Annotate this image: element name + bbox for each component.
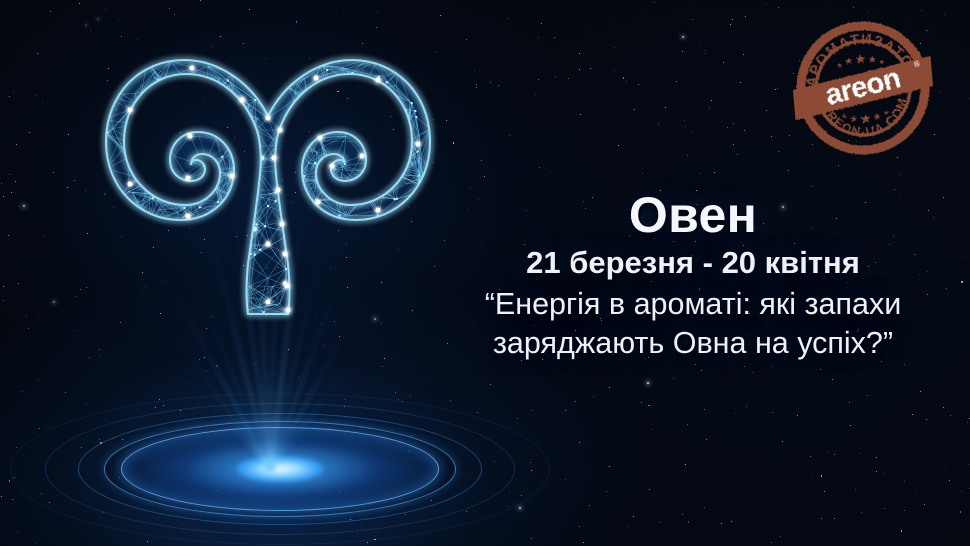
stamp-brand-text: areon <box>822 62 903 111</box>
areon-logo-stamp[interactable]: АРОМАТИЗАТОР AREON-UA.COM <box>787 12 939 164</box>
aries-ram-wireframe <box>92 38 444 330</box>
ram-silhouette-fill <box>106 60 430 314</box>
zodiac-quote-line-2: заряджають Овна на успіх?” <box>416 324 970 364</box>
base-core-light <box>237 456 323 482</box>
zodiac-text-block: Овен 21 березня - 20 квітня “Енергія в а… <box>416 190 970 364</box>
zodiac-quote-line-1: “Енергія в ароматі: які запахи <box>416 285 970 325</box>
zodiac-quote: “Енергія в ароматі: які запахи заряджают… <box>416 285 970 364</box>
page-title: Овен <box>416 190 970 241</box>
poster-canvas: Овен 21 березня - 20 квітня “Енергія в а… <box>0 0 970 546</box>
zodiac-date-range: 21 березня - 20 квітня <box>416 245 970 282</box>
